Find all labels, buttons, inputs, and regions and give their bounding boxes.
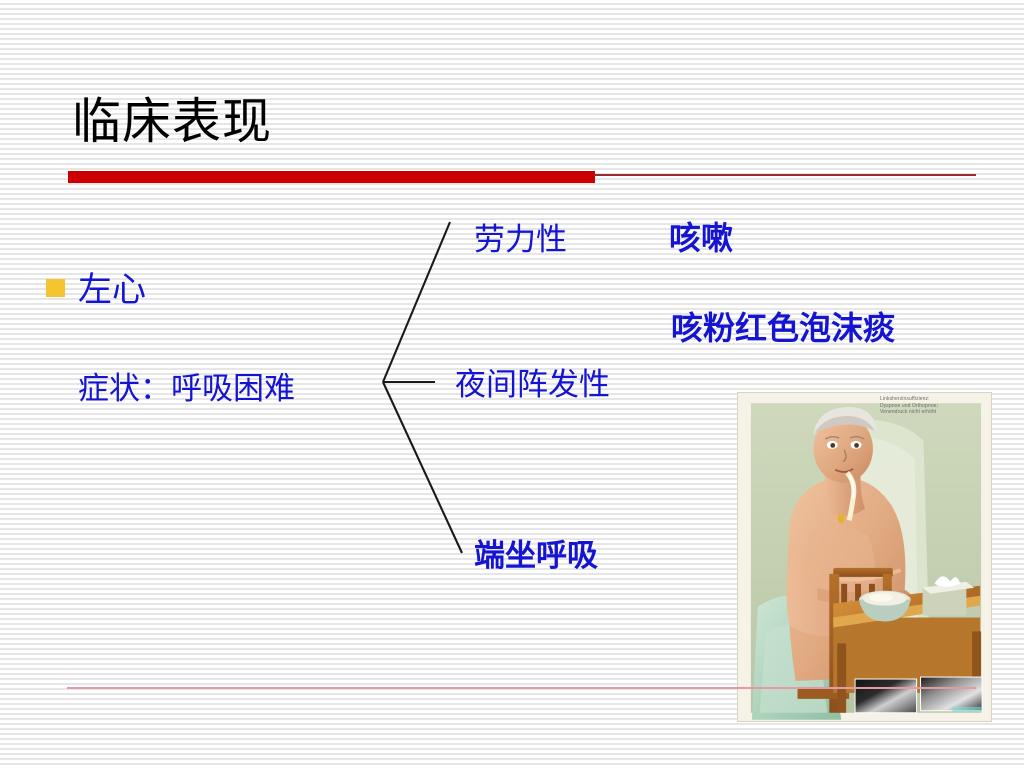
slide-canvas: 临床表现 左心 症状：呼吸困难 劳力性 夜间阵发性 端坐呼吸 咳嗽 咳粉红色泡沫… — [0, 0, 1024, 768]
clinical-illustration — [737, 392, 992, 722]
title-rule-thin — [594, 174, 976, 176]
title-rule-thick — [68, 171, 595, 183]
label-pink-frothy-sputum: 咳粉红色泡沫痰 — [671, 303, 895, 349]
page-title: 临床表现 — [72, 93, 272, 151]
branch-label-nocturnal-paroxysmal: 夜间阵发性 — [455, 359, 610, 404]
label-symptom-dyspnea: 症状：呼吸困难 — [78, 363, 295, 408]
label-cough: 咳嗽 — [669, 213, 733, 259]
bullet-square-icon — [46, 279, 65, 297]
illustration-graphic — [738, 393, 991, 721]
label-left-heart: 左心 — [78, 262, 146, 311]
branch-label-exertional: 劳力性 — [474, 214, 567, 259]
illustration-caption: Linksherzinsuffizienz: Dyspnoe und Ortho… — [880, 396, 975, 416]
branch-label-orthopnea: 端坐呼吸 — [474, 530, 598, 575]
caption-line-3: Venendruck nicht erhöht — [880, 409, 975, 416]
bottom-rule — [67, 687, 976, 689]
